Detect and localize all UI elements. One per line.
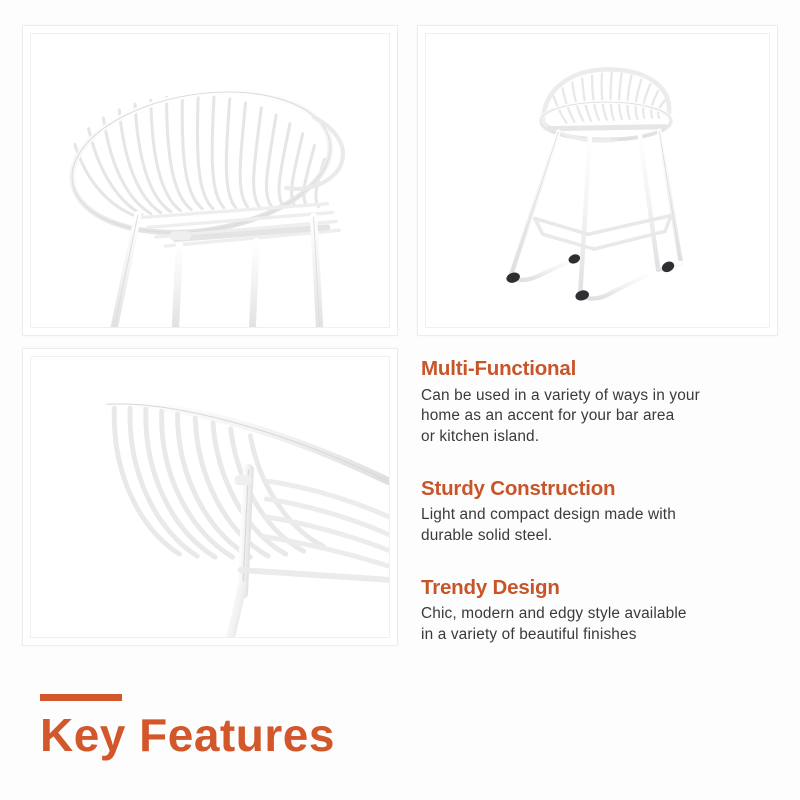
photo-mat [30, 356, 390, 638]
feature-title: Sturdy Construction [421, 477, 779, 501]
feature-title: Multi-Functional [421, 357, 779, 381]
product-feature-sheet: Multi-Functional Can be used in a variet… [0, 0, 800, 800]
product-photo-seat-closeup [22, 25, 398, 336]
wire-bar-stool-illustration [426, 34, 769, 327]
product-photo-wire-detail [22, 348, 398, 646]
key-features-headline: Key Features [40, 694, 335, 758]
feature-item-multi-functional: Multi-Functional Can be used in a variet… [421, 357, 779, 448]
wire-chair-seat-illustration [31, 34, 389, 327]
feature-title: Trendy Design [421, 576, 779, 600]
page-title: Key Features [40, 712, 335, 758]
feature-description: Light and compact design made with durab… [421, 505, 779, 546]
feature-description: Can be used in a variety of ways in your… [421, 386, 779, 448]
feature-description: Chic, modern and edgy style available in… [421, 604, 779, 645]
wire-frame-detail-illustration [31, 357, 389, 637]
accent-rule [40, 694, 122, 701]
feature-item-trendy-design: Trendy Design Chic, modern and edgy styl… [421, 576, 779, 646]
feature-list: Multi-Functional Can be used in a variet… [421, 357, 779, 645]
feature-item-sturdy-construction: Sturdy Construction Light and compact de… [421, 477, 779, 547]
photo-mat [425, 33, 770, 328]
photo-mat [30, 33, 390, 328]
product-photo-stool-full [417, 25, 778, 336]
